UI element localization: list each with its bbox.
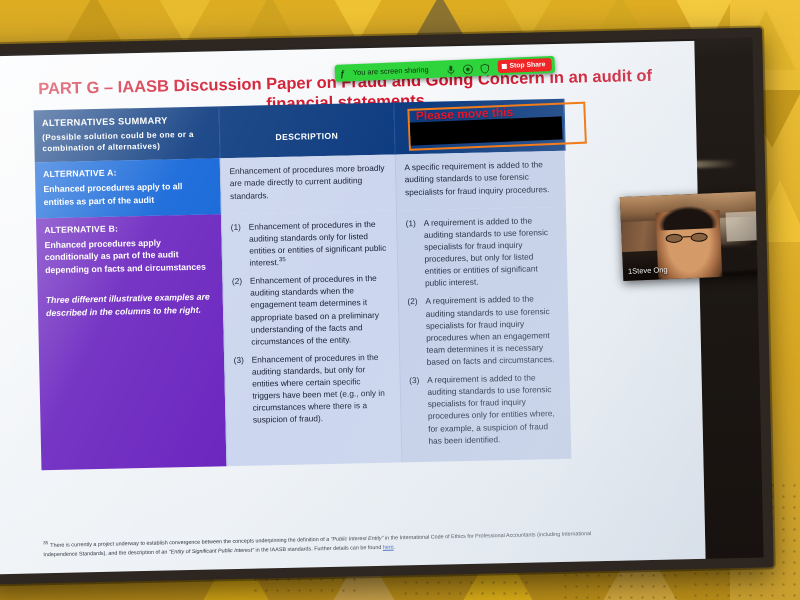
stop-square-icon <box>501 64 506 69</box>
list-item: (3) A requirement is added to the auditi… <box>409 371 562 447</box>
alternatives-table: ALTERNATIVES SUMMARY (Possible solution … <box>34 99 572 470</box>
participant-name-label: 1Steve Ong <box>628 265 668 276</box>
list-item-number: (2) <box>232 275 242 287</box>
zoom-logo-icon: ƒ <box>340 68 345 78</box>
footnote-quote-1: “Public Interest Entity” <box>331 536 384 543</box>
alternative-a-example-text: A specific requirement is added to the a… <box>404 158 556 198</box>
alternative-a-label: ALTERNATIVE A: <box>43 166 212 180</box>
shared-screen-content: PART G – IAASB Discussion Paper on Fraud… <box>0 41 706 584</box>
share-status-text: You are screen sharing <box>353 65 429 77</box>
list-item: (3) Enhancement of procedures in the aud… <box>234 351 392 427</box>
shield-icon[interactable] <box>478 61 490 73</box>
column-header-description: DESCRIPTION <box>219 103 395 159</box>
footnote-quote-2: “Entity of Significant Public Interest” <box>169 547 254 555</box>
table-row: ALTERNATIVE B: Enhanced procedures apply… <box>36 207 571 470</box>
alternative-b-description-cell: (1) Enhancement of procedures in the aud… <box>221 210 401 466</box>
screen-letterbox-right <box>694 38 763 559</box>
column-header-alternatives-summary: ALTERNATIVES SUMMARY (Possible solution … <box>34 106 220 162</box>
display-monitor: PART G – IAASB Discussion Paper on Fraud… <box>0 27 774 584</box>
alternative-a-example-cell: A specific requirement is added to the a… <box>395 151 566 210</box>
alternative-a-description-cell: Enhancement of procedures more broadly a… <box>220 155 396 214</box>
camera-icon[interactable] <box>461 62 473 74</box>
list-item-text: Enhancement of procedures in the auditin… <box>250 273 379 346</box>
wall-triangle-icon <box>155 0 215 44</box>
list-item-text: A requirement is added to the auditing s… <box>425 294 554 367</box>
list-item: (2) Enhancement of procedures in the aud… <box>232 272 390 348</box>
alternative-b-note-text: Three different illustrative examples ar… <box>46 290 215 319</box>
list-item-number: (1) <box>406 217 416 229</box>
webcam-background-screen <box>726 211 759 241</box>
alternative-a-summary-text: Enhanced procedures apply to all entitie… <box>43 180 212 209</box>
list-item-text: A requirement is added to the auditing s… <box>424 215 549 288</box>
list-item-number: (2) <box>407 295 417 307</box>
alternative-b-summary-text: Enhanced procedures apply conditionally … <box>44 235 213 277</box>
webcam-thumbnail[interactable]: 1Steve Ong <box>620 191 769 281</box>
stop-share-button[interactable]: Stop Share <box>497 58 551 73</box>
alternative-b-example-cell: (1) A requirement is added to the auditi… <box>396 207 571 463</box>
footnote-link[interactable]: here <box>383 544 394 550</box>
stop-share-label: Stop Share <box>509 61 545 69</box>
list-item: (1) A requirement is added to the auditi… <box>406 214 559 290</box>
webcam-participant-hair <box>658 205 717 231</box>
footnote-part-4: . <box>394 544 396 550</box>
list-item-text: Enhancement of procedures in the auditin… <box>252 352 385 425</box>
alternative-b-label: ALTERNATIVE B: <box>44 221 213 235</box>
footnote-marker: 35 <box>279 257 286 263</box>
summary-header-title: ALTERNATIVES SUMMARY <box>42 114 211 131</box>
footnote-marker: 35 <box>43 540 48 545</box>
alternative-b-summary-cell: ALTERNATIVE B: Enhanced procedures apply… <box>36 214 226 470</box>
list-item-number: (3) <box>234 354 244 366</box>
description-numbered-list: (1) Enhancement of procedures in the aud… <box>231 217 391 426</box>
list-item-number: (3) <box>409 374 419 386</box>
alternative-a-summary-cell: ALTERNATIVE A: Enhanced procedures apply… <box>35 159 221 218</box>
example-numbered-list: (1) A requirement is added to the auditi… <box>406 214 562 447</box>
microphone-icon[interactable] <box>444 62 456 74</box>
list-item: (2) A requirement is added to the auditi… <box>407 292 560 368</box>
alternative-a-description-text: Enhancement of procedures more broadly a… <box>229 162 386 202</box>
list-item-number: (1) <box>231 221 241 233</box>
list-item: (1) Enhancement of procedures in the aud… <box>231 217 388 269</box>
list-item-text: A requirement is added to the auditing s… <box>427 373 555 446</box>
footnote-part-3: in the IAASB standards. Further details … <box>254 544 383 553</box>
summary-header-subtitle: (Possible solution could be one or a com… <box>42 129 211 155</box>
list-item-text: Enhancement of procedures in the auditin… <box>249 219 387 268</box>
